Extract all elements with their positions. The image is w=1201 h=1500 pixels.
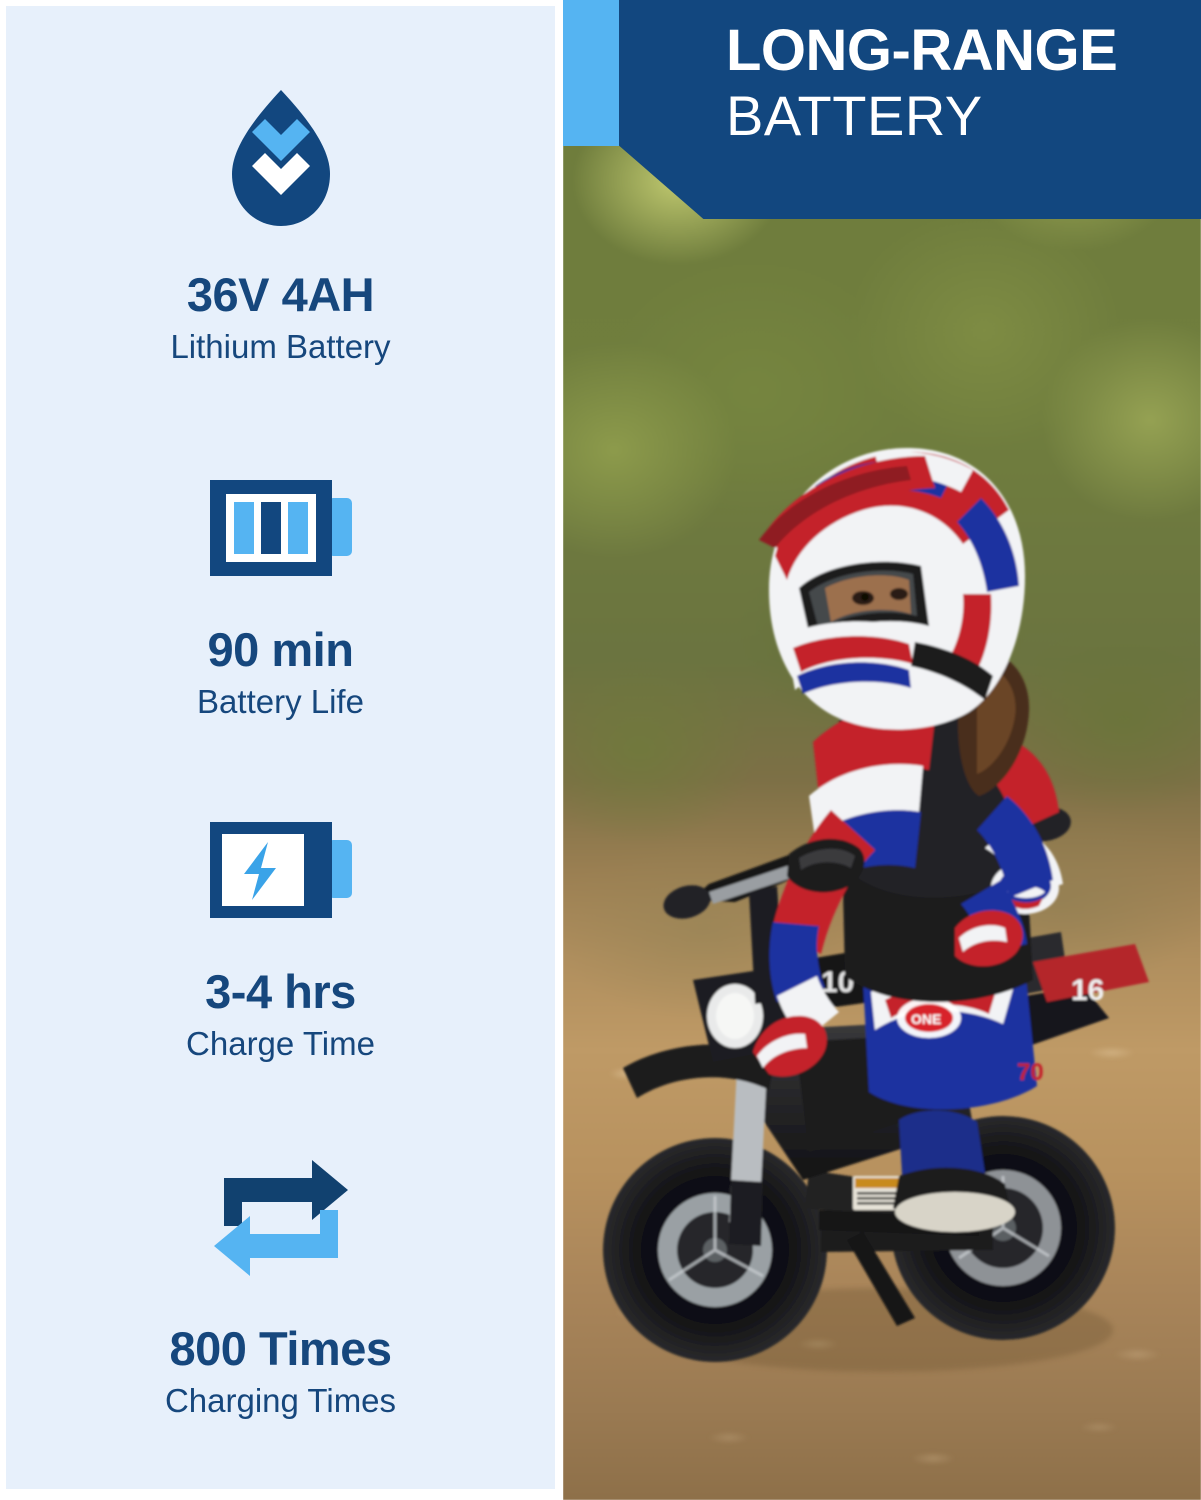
spec-label: Charge Time [186,1026,375,1062]
spec-value: 3-4 hrs [205,967,356,1016]
spec-value: 36V 4AH [187,270,374,319]
svg-text:70: 70 [1017,1059,1044,1086]
spec-item-charging-times: 800 Times Charging Times [6,1154,555,1420]
recharge-cycle-arrows-icon [206,1154,356,1282]
spec-label: Charging Times [165,1383,396,1419]
product-photo: 10 16 [563,0,1201,1500]
svg-text:ONE: ONE [911,1011,941,1027]
battery-charging-bolt-icon [208,818,354,922]
spec-item-charge-time: 3-4 hrs Charge Time [6,818,555,1063]
infographic-page: 36V 4AH Lithium Battery 90 min Battery L… [0,0,1201,1500]
spec-item-battery-life: 90 min Battery Life [6,476,555,721]
svg-text:70: 70 [1005,766,1034,796]
spec-value: 90 min [208,625,354,674]
spec-label: Battery Life [197,684,364,720]
battery-droplet-chevrons-icon [226,88,336,228]
battery-level-three-bars-icon [208,476,354,580]
banner-title-line1: LONG-RANGE [726,22,1201,80]
spec-item-lithium-battery: 36V 4AH Lithium Battery [6,88,555,366]
photo-rider-on-dirt-bike: 10 16 [563,0,1201,1500]
banner-title-line2: BATTERY [726,86,1201,146]
header-banner: LONG-RANGE BATTERY [619,0,1201,219]
banner-accent-bar [563,0,619,146]
svg-text:16: 16 [1071,974,1104,1007]
spec-value: 800 Times [170,1324,392,1373]
spec-panel: 36V 4AH Lithium Battery 90 min Battery L… [6,6,555,1489]
spec-label: Lithium Battery [170,329,390,365]
